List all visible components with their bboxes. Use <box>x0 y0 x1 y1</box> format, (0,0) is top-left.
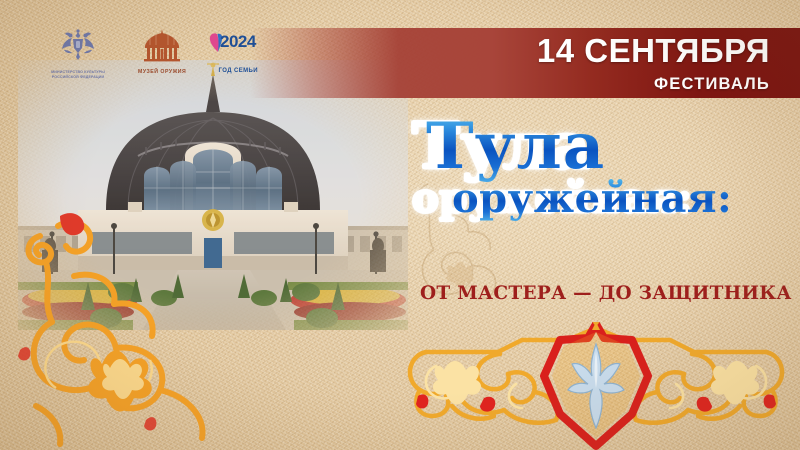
logo-ministry-caption: МИНИСТЕРСТВО КУЛЬТУРЫ РОССИЙСКОЙ ФЕДЕРАЦ… <box>40 70 116 80</box>
title-line-1: Тула <box>426 109 605 184</box>
poster-canvas: 14 СЕНТЯБРЯ ФЕСТИВАЛЬ <box>0 0 800 450</box>
logo-museum-caption: МУЗЕЙ ОРУЖИЯ <box>138 69 186 77</box>
title-line-2-stack: оружейная: оружейная: <box>412 181 790 218</box>
heart-icon: 2024 <box>208 28 268 67</box>
title-line-2: оружейная: <box>452 175 732 222</box>
title-block: Тула Тула оружейная: оружейная: <box>412 118 790 218</box>
logo-year-of-family: 2024 ГОД СЕМЬИ <box>208 28 268 76</box>
title-line-1-stack: Тула Тула <box>412 118 790 177</box>
logo-row: МИНИСТЕРСТВО КУЛЬТУРЫ РОССИЙСКОЙ ФЕДЕРАЦ… <box>40 28 268 80</box>
date-banner: 14 СЕНТЯБРЯ ФЕСТИВАЛЬ <box>250 28 800 98</box>
double-headed-eagle-icon <box>60 28 96 67</box>
event-date: 14 СЕНТЯБРЯ <box>537 34 770 67</box>
museum-building-icon <box>139 28 185 67</box>
logo-family-caption: ГОД СЕМЬИ <box>219 67 258 76</box>
subtitle: ОТ МАСТЕРА — ДО ЗАЩИТНИКА <box>420 283 790 304</box>
svg-text:2024: 2024 <box>220 32 257 51</box>
symmetric-floral-ornament-icon <box>392 322 800 450</box>
slavic-scroll-ornament-icon <box>6 188 296 450</box>
event-type-label: ФЕСТИВАЛЬ <box>654 76 770 93</box>
logo-ministry-of-culture: МИНИСТЕРСТВО КУЛЬТУРЫ РОССИЙСКОЙ ФЕДЕРАЦ… <box>40 28 116 80</box>
ornament-bottom-band <box>392 322 800 450</box>
ornament-left-corner <box>6 188 296 450</box>
logo-museum-of-weapons: МУЗЕЙ ОРУЖИЯ <box>138 28 186 77</box>
